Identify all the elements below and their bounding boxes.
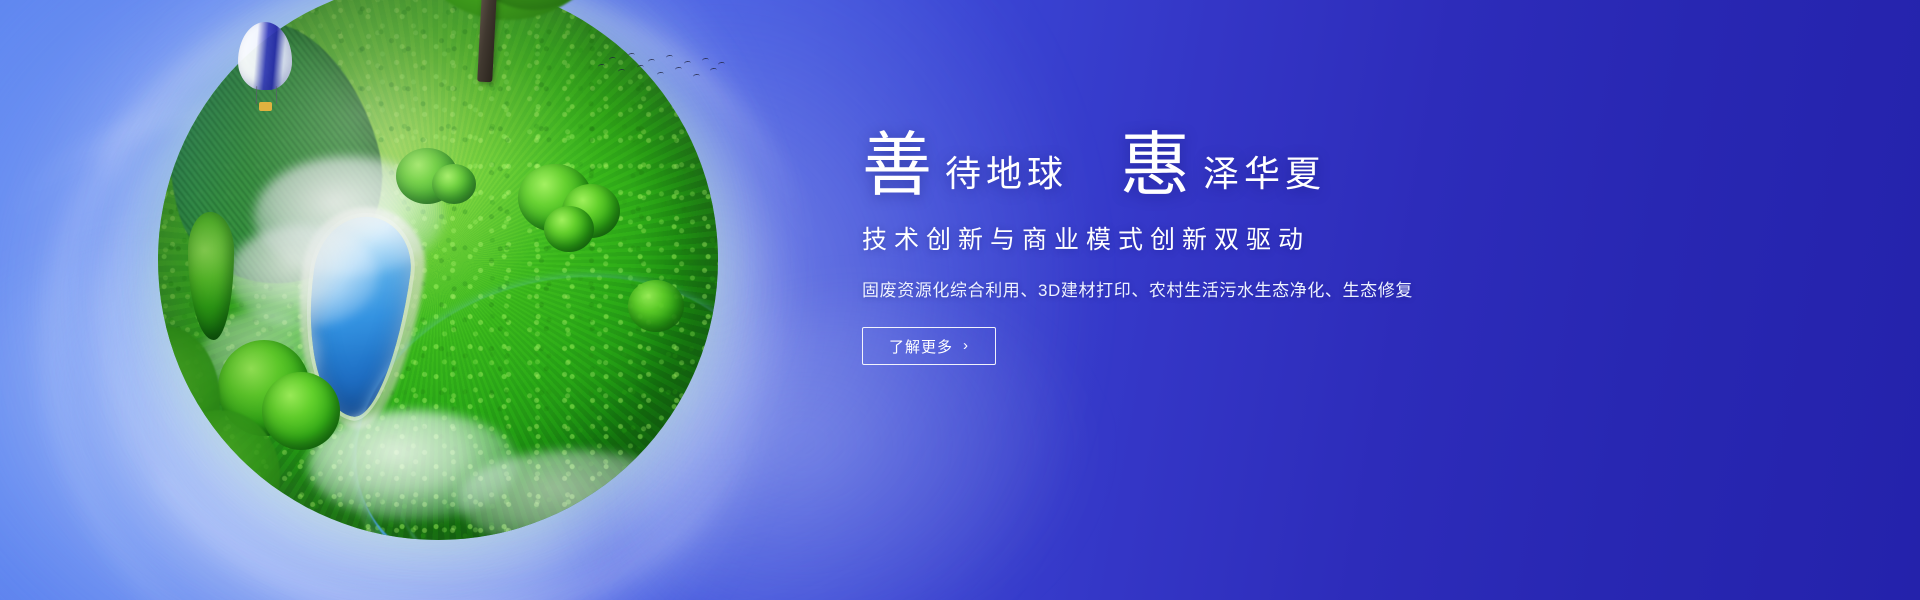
chevron-right-icon: › [963, 338, 969, 353]
bird-icon [648, 59, 656, 65]
hot-air-balloon [238, 22, 292, 114]
bird-icon [693, 74, 701, 80]
bird-icon [609, 57, 617, 63]
page-title: 善 待地球 惠 泽华夏 [862, 128, 1562, 198]
bird-icon [666, 55, 674, 61]
headline-part1-rest: 待地球 [933, 156, 1068, 192]
learn-more-label: 了解更多 [889, 336, 953, 357]
bird-flock [596, 48, 726, 92]
hero-subtitle: 技术创新与商业模式创新双驱动 [862, 220, 1562, 256]
bird-icon [684, 61, 692, 67]
balloon-envelope [238, 22, 292, 90]
hero-content: 善 待地球 惠 泽华夏 技术创新与商业模式创新双驱动 固废资源化综合利用、3D建… [862, 128, 1562, 365]
bird-icon [637, 65, 645, 71]
bird-icon [710, 68, 718, 74]
headline-part2-rest: 泽华夏 [1191, 156, 1326, 192]
bird-icon [675, 67, 683, 73]
balloon-basket [259, 102, 272, 111]
cta-row: 了解更多 › [862, 327, 1562, 365]
bird-icon [702, 58, 710, 64]
headline-part1-emphasis: 善 [862, 132, 933, 202]
hero-banner: 善 待地球 惠 泽华夏 技术创新与商业模式创新双驱动 固废资源化综合利用、3D建… [0, 0, 1920, 600]
bird-icon [598, 64, 606, 70]
headline-part2-emphasis: 惠 [1120, 132, 1191, 202]
bird-icon [618, 69, 626, 75]
hero-description: 固废资源化综合利用、3D建材打印、农村生活污水生态净化、生态修复 [862, 276, 1562, 301]
bird-icon [718, 62, 726, 68]
bird-icon [628, 53, 636, 59]
bird-icon [657, 72, 665, 78]
learn-more-button[interactable]: 了解更多 › [862, 327, 996, 365]
